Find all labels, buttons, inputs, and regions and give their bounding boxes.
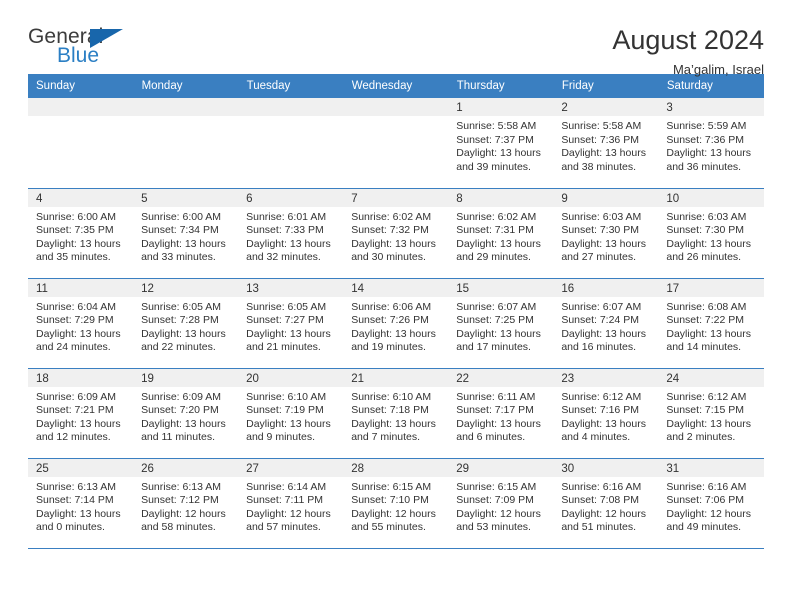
sunrise-line: Sunrise: 5:58 AM bbox=[561, 120, 650, 134]
weekday-header-friday: Friday bbox=[553, 74, 658, 98]
day-cell-inner: 21Sunrise: 6:10 AMSunset: 7:18 PMDayligh… bbox=[343, 369, 448, 458]
day-number: 4 bbox=[28, 189, 133, 207]
daylight-line-cont: and 2 minutes. bbox=[666, 431, 755, 445]
daylight-line: Daylight: 12 hours bbox=[561, 508, 650, 522]
day-details: Sunrise: 6:14 AMSunset: 7:11 PMDaylight:… bbox=[238, 477, 343, 535]
calendar-body: 1Sunrise: 5:58 AMSunset: 7:37 PMDaylight… bbox=[28, 98, 764, 548]
calendar-day-cell[interactable]: 31Sunrise: 6:16 AMSunset: 7:06 PMDayligh… bbox=[658, 458, 763, 548]
day-details bbox=[238, 116, 343, 120]
day-cell-inner bbox=[133, 98, 238, 188]
calendar-empty-cell bbox=[238, 98, 343, 188]
daylight-line: Daylight: 13 hours bbox=[561, 418, 650, 432]
day-cell-inner: 26Sunrise: 6:13 AMSunset: 7:12 PMDayligh… bbox=[133, 459, 238, 548]
day-details: Sunrise: 5:58 AMSunset: 7:37 PMDaylight:… bbox=[448, 116, 553, 174]
calendar-day-cell[interactable]: 28Sunrise: 6:15 AMSunset: 7:10 PMDayligh… bbox=[343, 458, 448, 548]
weekday-header-wednesday: Wednesday bbox=[343, 74, 448, 98]
calendar-day-cell[interactable]: 16Sunrise: 6:07 AMSunset: 7:24 PMDayligh… bbox=[553, 278, 658, 368]
sunrise-line: Sunrise: 6:03 AM bbox=[561, 211, 650, 225]
calendar-day-cell[interactable]: 3Sunrise: 5:59 AMSunset: 7:36 PMDaylight… bbox=[658, 98, 763, 188]
day-number: 25 bbox=[28, 459, 133, 477]
sunrise-line: Sunrise: 6:15 AM bbox=[351, 481, 440, 495]
calendar-day-cell[interactable]: 20Sunrise: 6:10 AMSunset: 7:19 PMDayligh… bbox=[238, 368, 343, 458]
daylight-line-cont: and 53 minutes. bbox=[456, 521, 545, 535]
sunset-line: Sunset: 7:16 PM bbox=[561, 404, 650, 418]
day-cell-inner: 22Sunrise: 6:11 AMSunset: 7:17 PMDayligh… bbox=[448, 369, 553, 458]
daylight-line: Daylight: 13 hours bbox=[141, 238, 230, 252]
daylight-line: Daylight: 13 hours bbox=[246, 328, 335, 342]
day-number: 11 bbox=[28, 279, 133, 297]
day-number: 18 bbox=[28, 369, 133, 387]
daylight-line-cont: and 55 minutes. bbox=[351, 521, 440, 535]
day-cell-inner: 13Sunrise: 6:05 AMSunset: 7:27 PMDayligh… bbox=[238, 279, 343, 368]
sunset-line: Sunset: 7:34 PM bbox=[141, 224, 230, 238]
sunrise-line: Sunrise: 6:06 AM bbox=[351, 301, 440, 315]
daylight-line: Daylight: 13 hours bbox=[351, 238, 440, 252]
sunrise-line: Sunrise: 6:02 AM bbox=[456, 211, 545, 225]
day-number: 3 bbox=[658, 98, 763, 116]
sunrise-line: Sunrise: 6:12 AM bbox=[666, 391, 755, 405]
calendar-day-cell[interactable]: 7Sunrise: 6:02 AMSunset: 7:32 PMDaylight… bbox=[343, 188, 448, 278]
day-details: Sunrise: 5:58 AMSunset: 7:36 PMDaylight:… bbox=[553, 116, 658, 174]
daylight-line-cont: and 4 minutes. bbox=[561, 431, 650, 445]
day-number: 13 bbox=[238, 279, 343, 297]
daylight-line-cont: and 33 minutes. bbox=[141, 251, 230, 265]
sunset-line: Sunset: 7:12 PM bbox=[141, 494, 230, 508]
sunset-line: Sunset: 7:35 PM bbox=[36, 224, 125, 238]
day-number: 1 bbox=[448, 98, 553, 116]
sunset-line: Sunset: 7:25 PM bbox=[456, 314, 545, 328]
daylight-line: Daylight: 13 hours bbox=[456, 238, 545, 252]
calendar-day-cell[interactable]: 9Sunrise: 6:03 AMSunset: 7:30 PMDaylight… bbox=[553, 188, 658, 278]
daylight-line: Daylight: 13 hours bbox=[456, 418, 545, 432]
calendar-day-cell[interactable]: 25Sunrise: 6:13 AMSunset: 7:14 PMDayligh… bbox=[28, 458, 133, 548]
day-number: 17 bbox=[658, 279, 763, 297]
daylight-line: Daylight: 13 hours bbox=[666, 238, 755, 252]
general-blue-logo[interactable]: General Blue bbox=[28, 26, 148, 74]
daylight-line: Daylight: 12 hours bbox=[141, 508, 230, 522]
calendar-day-cell[interactable]: 24Sunrise: 6:12 AMSunset: 7:15 PMDayligh… bbox=[658, 368, 763, 458]
sunset-line: Sunset: 7:26 PM bbox=[351, 314, 440, 328]
calendar-day-cell[interactable]: 1Sunrise: 5:58 AMSunset: 7:37 PMDaylight… bbox=[448, 98, 553, 188]
calendar-day-cell[interactable]: 14Sunrise: 6:06 AMSunset: 7:26 PMDayligh… bbox=[343, 278, 448, 368]
daylight-line: Daylight: 12 hours bbox=[246, 508, 335, 522]
day-details: Sunrise: 6:07 AMSunset: 7:25 PMDaylight:… bbox=[448, 297, 553, 355]
weekday-header-saturday: Saturday bbox=[658, 74, 763, 98]
calendar-day-cell[interactable]: 21Sunrise: 6:10 AMSunset: 7:18 PMDayligh… bbox=[343, 368, 448, 458]
daylight-line: Daylight: 13 hours bbox=[456, 328, 545, 342]
day-details: Sunrise: 6:09 AMSunset: 7:21 PMDaylight:… bbox=[28, 387, 133, 445]
calendar-day-cell[interactable]: 6Sunrise: 6:01 AMSunset: 7:33 PMDaylight… bbox=[238, 188, 343, 278]
daylight-line-cont: and 35 minutes. bbox=[36, 251, 125, 265]
day-number bbox=[343, 98, 448, 116]
calendar-day-cell[interactable]: 4Sunrise: 6:00 AMSunset: 7:35 PMDaylight… bbox=[28, 188, 133, 278]
day-number: 21 bbox=[343, 369, 448, 387]
day-number: 15 bbox=[448, 279, 553, 297]
day-details: Sunrise: 6:02 AMSunset: 7:31 PMDaylight:… bbox=[448, 207, 553, 265]
calendar-day-cell[interactable]: 26Sunrise: 6:13 AMSunset: 7:12 PMDayligh… bbox=[133, 458, 238, 548]
day-cell-inner: 6Sunrise: 6:01 AMSunset: 7:33 PMDaylight… bbox=[238, 189, 343, 278]
sunset-line: Sunset: 7:30 PM bbox=[561, 224, 650, 238]
sunset-line: Sunset: 7:17 PM bbox=[456, 404, 545, 418]
daylight-line-cont: and 32 minutes. bbox=[246, 251, 335, 265]
daylight-line: Daylight: 13 hours bbox=[351, 328, 440, 342]
daylight-line-cont: and 16 minutes. bbox=[561, 341, 650, 355]
day-details: Sunrise: 6:08 AMSunset: 7:22 PMDaylight:… bbox=[658, 297, 763, 355]
daylight-line-cont: and 9 minutes. bbox=[246, 431, 335, 445]
day-cell-inner: 24Sunrise: 6:12 AMSunset: 7:15 PMDayligh… bbox=[658, 369, 763, 458]
daylight-line-cont: and 17 minutes. bbox=[456, 341, 545, 355]
sunrise-line: Sunrise: 6:09 AM bbox=[36, 391, 125, 405]
sunrise-line: Sunrise: 6:13 AM bbox=[141, 481, 230, 495]
day-details bbox=[343, 116, 448, 120]
sunrise-line: Sunrise: 6:16 AM bbox=[561, 481, 650, 495]
day-number: 8 bbox=[448, 189, 553, 207]
daylight-line-cont: and 26 minutes. bbox=[666, 251, 755, 265]
page-title: August 2024 bbox=[612, 26, 764, 56]
daylight-line: Daylight: 13 hours bbox=[351, 418, 440, 432]
sunset-line: Sunset: 7:11 PM bbox=[246, 494, 335, 508]
page-subtitle: Ma’galim, Israel bbox=[612, 62, 764, 77]
daylight-line: Daylight: 12 hours bbox=[456, 508, 545, 522]
weekday-header-thursday: Thursday bbox=[448, 74, 553, 98]
day-details: Sunrise: 6:12 AMSunset: 7:16 PMDaylight:… bbox=[553, 387, 658, 445]
day-cell-inner: 1Sunrise: 5:58 AMSunset: 7:37 PMDaylight… bbox=[448, 98, 553, 188]
daylight-line-cont: and 7 minutes. bbox=[351, 431, 440, 445]
sunset-line: Sunset: 7:21 PM bbox=[36, 404, 125, 418]
sunrise-line: Sunrise: 6:00 AM bbox=[141, 211, 230, 225]
sunset-line: Sunset: 7:36 PM bbox=[561, 134, 650, 148]
day-number: 7 bbox=[343, 189, 448, 207]
day-number: 26 bbox=[133, 459, 238, 477]
calendar-week-row: 25Sunrise: 6:13 AMSunset: 7:14 PMDayligh… bbox=[28, 458, 764, 548]
day-cell-inner: 11Sunrise: 6:04 AMSunset: 7:29 PMDayligh… bbox=[28, 279, 133, 368]
daylight-line-cont: and 6 minutes. bbox=[456, 431, 545, 445]
calendar-day-cell[interactable]: 18Sunrise: 6:09 AMSunset: 7:21 PMDayligh… bbox=[28, 368, 133, 458]
day-number: 23 bbox=[553, 369, 658, 387]
weekday-header-sunday: Sunday bbox=[28, 74, 133, 98]
daylight-line: Daylight: 13 hours bbox=[561, 328, 650, 342]
sunset-line: Sunset: 7:24 PM bbox=[561, 314, 650, 328]
day-cell-inner: 15Sunrise: 6:07 AMSunset: 7:25 PMDayligh… bbox=[448, 279, 553, 368]
sunset-line: Sunset: 7:30 PM bbox=[666, 224, 755, 238]
calendar-empty-cell bbox=[343, 98, 448, 188]
daylight-line: Daylight: 13 hours bbox=[36, 418, 125, 432]
sunrise-line: Sunrise: 6:07 AM bbox=[456, 301, 545, 315]
sunset-line: Sunset: 7:18 PM bbox=[351, 404, 440, 418]
daylight-line: Daylight: 13 hours bbox=[246, 418, 335, 432]
logo-text-blue: Blue bbox=[57, 45, 99, 66]
sunrise-line: Sunrise: 6:08 AM bbox=[666, 301, 755, 315]
day-cell-inner: 23Sunrise: 6:12 AMSunset: 7:16 PMDayligh… bbox=[553, 369, 658, 458]
day-cell-inner: 12Sunrise: 6:05 AMSunset: 7:28 PMDayligh… bbox=[133, 279, 238, 368]
sunrise-line: Sunrise: 6:15 AM bbox=[456, 481, 545, 495]
day-details: Sunrise: 6:02 AMSunset: 7:32 PMDaylight:… bbox=[343, 207, 448, 265]
day-number: 22 bbox=[448, 369, 553, 387]
day-number: 28 bbox=[343, 459, 448, 477]
day-details: Sunrise: 6:09 AMSunset: 7:20 PMDaylight:… bbox=[133, 387, 238, 445]
page-header: General Blue August 2024 Ma’galim, Israe… bbox=[28, 0, 764, 74]
day-cell-inner: 20Sunrise: 6:10 AMSunset: 7:19 PMDayligh… bbox=[238, 369, 343, 458]
daylight-line-cont: and 19 minutes. bbox=[351, 341, 440, 355]
sunset-line: Sunset: 7:14 PM bbox=[36, 494, 125, 508]
calendar-day-cell[interactable]: 29Sunrise: 6:15 AMSunset: 7:09 PMDayligh… bbox=[448, 458, 553, 548]
calendar-day-cell[interactable]: 15Sunrise: 6:07 AMSunset: 7:25 PMDayligh… bbox=[448, 278, 553, 368]
day-number: 9 bbox=[553, 189, 658, 207]
day-details: Sunrise: 6:05 AMSunset: 7:28 PMDaylight:… bbox=[133, 297, 238, 355]
daylight-line-cont: and 30 minutes. bbox=[351, 251, 440, 265]
day-number bbox=[238, 98, 343, 116]
calendar-day-cell[interactable]: 8Sunrise: 6:02 AMSunset: 7:31 PMDaylight… bbox=[448, 188, 553, 278]
calendar-day-cell[interactable]: 5Sunrise: 6:00 AMSunset: 7:34 PMDaylight… bbox=[133, 188, 238, 278]
day-details: Sunrise: 6:00 AMSunset: 7:34 PMDaylight:… bbox=[133, 207, 238, 265]
sunset-line: Sunset: 7:08 PM bbox=[561, 494, 650, 508]
day-details: Sunrise: 6:03 AMSunset: 7:30 PMDaylight:… bbox=[553, 207, 658, 265]
day-number: 14 bbox=[343, 279, 448, 297]
day-details: Sunrise: 6:07 AMSunset: 7:24 PMDaylight:… bbox=[553, 297, 658, 355]
sunrise-line: Sunrise: 5:59 AM bbox=[666, 120, 755, 134]
sunrise-line: Sunrise: 6:00 AM bbox=[36, 211, 125, 225]
day-number: 12 bbox=[133, 279, 238, 297]
daylight-line-cont: and 27 minutes. bbox=[561, 251, 650, 265]
day-details: Sunrise: 6:10 AMSunset: 7:18 PMDaylight:… bbox=[343, 387, 448, 445]
sunrise-line: Sunrise: 6:02 AM bbox=[351, 211, 440, 225]
calendar-day-cell[interactable]: 22Sunrise: 6:11 AMSunset: 7:17 PMDayligh… bbox=[448, 368, 553, 458]
calendar-day-cell[interactable]: 17Sunrise: 6:08 AMSunset: 7:22 PMDayligh… bbox=[658, 278, 763, 368]
day-cell-inner bbox=[343, 98, 448, 188]
sunrise-line: Sunrise: 5:58 AM bbox=[456, 120, 545, 134]
calendar-day-cell[interactable]: 23Sunrise: 6:12 AMSunset: 7:16 PMDayligh… bbox=[553, 368, 658, 458]
calendar-day-cell[interactable]: 10Sunrise: 6:03 AMSunset: 7:30 PMDayligh… bbox=[658, 188, 763, 278]
day-number: 24 bbox=[658, 369, 763, 387]
day-details: Sunrise: 6:11 AMSunset: 7:17 PMDaylight:… bbox=[448, 387, 553, 445]
day-details: Sunrise: 6:13 AMSunset: 7:12 PMDaylight:… bbox=[133, 477, 238, 535]
day-cell-inner: 31Sunrise: 6:16 AMSunset: 7:06 PMDayligh… bbox=[658, 459, 763, 548]
daylight-line: Daylight: 13 hours bbox=[666, 147, 755, 161]
sunrise-line: Sunrise: 6:16 AM bbox=[666, 481, 755, 495]
daylight-line: Daylight: 13 hours bbox=[666, 328, 755, 342]
calendar-header-row: Sunday Monday Tuesday Wednesday Thursday… bbox=[28, 74, 764, 98]
day-details: Sunrise: 6:13 AMSunset: 7:14 PMDaylight:… bbox=[28, 477, 133, 535]
sunset-line: Sunset: 7:19 PM bbox=[246, 404, 335, 418]
day-cell-inner: 18Sunrise: 6:09 AMSunset: 7:21 PMDayligh… bbox=[28, 369, 133, 458]
day-cell-inner: 17Sunrise: 6:08 AMSunset: 7:22 PMDayligh… bbox=[658, 279, 763, 368]
daylight-line: Daylight: 13 hours bbox=[246, 238, 335, 252]
daylight-line-cont: and 29 minutes. bbox=[456, 251, 545, 265]
day-number: 6 bbox=[238, 189, 343, 207]
sunset-line: Sunset: 7:33 PM bbox=[246, 224, 335, 238]
daylight-line-cont: and 49 minutes. bbox=[666, 521, 755, 535]
calendar-grid: Sunday Monday Tuesday Wednesday Thursday… bbox=[28, 74, 764, 549]
day-cell-inner: 19Sunrise: 6:09 AMSunset: 7:20 PMDayligh… bbox=[133, 369, 238, 458]
day-number: 10 bbox=[658, 189, 763, 207]
sunset-line: Sunset: 7:29 PM bbox=[36, 314, 125, 328]
day-details: Sunrise: 6:03 AMSunset: 7:30 PMDaylight:… bbox=[658, 207, 763, 265]
day-cell-inner: 8Sunrise: 6:02 AMSunset: 7:31 PMDaylight… bbox=[448, 189, 553, 278]
day-cell-inner: 3Sunrise: 5:59 AMSunset: 7:36 PMDaylight… bbox=[658, 98, 763, 188]
daylight-line: Daylight: 13 hours bbox=[561, 147, 650, 161]
calendar-day-cell[interactable]: 12Sunrise: 6:05 AMSunset: 7:28 PMDayligh… bbox=[133, 278, 238, 368]
daylight-line: Daylight: 13 hours bbox=[456, 147, 545, 161]
daylight-line-cont: and 12 minutes. bbox=[36, 431, 125, 445]
daylight-line: Daylight: 13 hours bbox=[36, 508, 125, 522]
daylight-line-cont: and 58 minutes. bbox=[141, 521, 230, 535]
calendar-week-row: 4Sunrise: 6:00 AMSunset: 7:35 PMDaylight… bbox=[28, 188, 764, 278]
daylight-line: Daylight: 13 hours bbox=[141, 418, 230, 432]
day-details: Sunrise: 6:15 AMSunset: 7:09 PMDaylight:… bbox=[448, 477, 553, 535]
daylight-line: Daylight: 12 hours bbox=[351, 508, 440, 522]
day-details: Sunrise: 6:00 AMSunset: 7:35 PMDaylight:… bbox=[28, 207, 133, 265]
daylight-line-cont: and 36 minutes. bbox=[666, 161, 755, 175]
day-details bbox=[28, 116, 133, 120]
day-cell-inner: 28Sunrise: 6:15 AMSunset: 7:10 PMDayligh… bbox=[343, 459, 448, 548]
day-number: 27 bbox=[238, 459, 343, 477]
day-details: Sunrise: 6:06 AMSunset: 7:26 PMDaylight:… bbox=[343, 297, 448, 355]
calendar-day-cell[interactable]: 30Sunrise: 6:16 AMSunset: 7:08 PMDayligh… bbox=[553, 458, 658, 548]
calendar-day-cell[interactable]: 27Sunrise: 6:14 AMSunset: 7:11 PMDayligh… bbox=[238, 458, 343, 548]
sunset-line: Sunset: 7:06 PM bbox=[666, 494, 755, 508]
calendar-empty-cell bbox=[28, 98, 133, 188]
sunrise-line: Sunrise: 6:01 AM bbox=[246, 211, 335, 225]
day-details: Sunrise: 6:16 AMSunset: 7:06 PMDaylight:… bbox=[658, 477, 763, 535]
day-number: 31 bbox=[658, 459, 763, 477]
daylight-line: Daylight: 13 hours bbox=[141, 328, 230, 342]
sunrise-line: Sunrise: 6:10 AM bbox=[351, 391, 440, 405]
sunrise-line: Sunrise: 6:03 AM bbox=[666, 211, 755, 225]
day-cell-inner: 5Sunrise: 6:00 AMSunset: 7:34 PMDaylight… bbox=[133, 189, 238, 278]
day-details: Sunrise: 6:12 AMSunset: 7:15 PMDaylight:… bbox=[658, 387, 763, 445]
day-details: Sunrise: 6:10 AMSunset: 7:19 PMDaylight:… bbox=[238, 387, 343, 445]
sunrise-line: Sunrise: 6:12 AM bbox=[561, 391, 650, 405]
sunrise-line: Sunrise: 6:11 AM bbox=[456, 391, 545, 405]
sunrise-line: Sunrise: 6:10 AM bbox=[246, 391, 335, 405]
sunset-line: Sunset: 7:15 PM bbox=[666, 404, 755, 418]
day-number: 19 bbox=[133, 369, 238, 387]
sunrise-line: Sunrise: 6:09 AM bbox=[141, 391, 230, 405]
day-number: 16 bbox=[553, 279, 658, 297]
title-block: August 2024 Ma’galim, Israel bbox=[612, 26, 764, 77]
sunset-line: Sunset: 7:22 PM bbox=[666, 314, 755, 328]
calendar-day-cell[interactable]: 11Sunrise: 6:04 AMSunset: 7:29 PMDayligh… bbox=[28, 278, 133, 368]
day-number bbox=[28, 98, 133, 116]
day-number: 30 bbox=[553, 459, 658, 477]
calendar-day-cell[interactable]: 13Sunrise: 6:05 AMSunset: 7:27 PMDayligh… bbox=[238, 278, 343, 368]
calendar-week-row: 18Sunrise: 6:09 AMSunset: 7:21 PMDayligh… bbox=[28, 368, 764, 458]
weekday-header-tuesday: Tuesday bbox=[238, 74, 343, 98]
day-cell-inner: 9Sunrise: 6:03 AMSunset: 7:30 PMDaylight… bbox=[553, 189, 658, 278]
sunrise-line: Sunrise: 6:05 AM bbox=[246, 301, 335, 315]
daylight-line: Daylight: 13 hours bbox=[36, 238, 125, 252]
daylight-line-cont: and 22 minutes. bbox=[141, 341, 230, 355]
sunset-line: Sunset: 7:09 PM bbox=[456, 494, 545, 508]
weekday-header-monday: Monday bbox=[133, 74, 238, 98]
daylight-line-cont: and 24 minutes. bbox=[36, 341, 125, 355]
daylight-line: Daylight: 13 hours bbox=[36, 328, 125, 342]
day-cell-inner: 25Sunrise: 6:13 AMSunset: 7:14 PMDayligh… bbox=[28, 459, 133, 548]
calendar-week-row: 11Sunrise: 6:04 AMSunset: 7:29 PMDayligh… bbox=[28, 278, 764, 368]
day-cell-inner: 4Sunrise: 6:00 AMSunset: 7:35 PMDaylight… bbox=[28, 189, 133, 278]
day-number bbox=[133, 98, 238, 116]
calendar-empty-cell bbox=[133, 98, 238, 188]
day-cell-inner: 14Sunrise: 6:06 AMSunset: 7:26 PMDayligh… bbox=[343, 279, 448, 368]
day-cell-inner: 27Sunrise: 6:14 AMSunset: 7:11 PMDayligh… bbox=[238, 459, 343, 548]
day-number: 20 bbox=[238, 369, 343, 387]
day-details: Sunrise: 6:01 AMSunset: 7:33 PMDaylight:… bbox=[238, 207, 343, 265]
day-details: Sunrise: 6:15 AMSunset: 7:10 PMDaylight:… bbox=[343, 477, 448, 535]
day-cell-inner: 29Sunrise: 6:15 AMSunset: 7:09 PMDayligh… bbox=[448, 459, 553, 548]
day-cell-inner bbox=[238, 98, 343, 188]
daylight-line-cont: and 57 minutes. bbox=[246, 521, 335, 535]
day-cell-inner: 2Sunrise: 5:58 AMSunset: 7:36 PMDaylight… bbox=[553, 98, 658, 188]
day-details: Sunrise: 5:59 AMSunset: 7:36 PMDaylight:… bbox=[658, 116, 763, 174]
sunset-line: Sunset: 7:31 PM bbox=[456, 224, 545, 238]
calendar-week-row: 1Sunrise: 5:58 AMSunset: 7:37 PMDaylight… bbox=[28, 98, 764, 188]
calendar-day-cell[interactable]: 19Sunrise: 6:09 AMSunset: 7:20 PMDayligh… bbox=[133, 368, 238, 458]
daylight-line-cont: and 14 minutes. bbox=[666, 341, 755, 355]
day-cell-inner: 16Sunrise: 6:07 AMSunset: 7:24 PMDayligh… bbox=[553, 279, 658, 368]
daylight-line: Daylight: 12 hours bbox=[666, 508, 755, 522]
daylight-line: Daylight: 13 hours bbox=[666, 418, 755, 432]
day-details: Sunrise: 6:16 AMSunset: 7:08 PMDaylight:… bbox=[553, 477, 658, 535]
day-cell-inner bbox=[28, 98, 133, 188]
daylight-line-cont: and 38 minutes. bbox=[561, 161, 650, 175]
sunset-line: Sunset: 7:36 PM bbox=[666, 134, 755, 148]
daylight-line-cont: and 39 minutes. bbox=[456, 161, 545, 175]
day-number: 5 bbox=[133, 189, 238, 207]
sunset-line: Sunset: 7:28 PM bbox=[141, 314, 230, 328]
day-details: Sunrise: 6:05 AMSunset: 7:27 PMDaylight:… bbox=[238, 297, 343, 355]
day-details bbox=[133, 116, 238, 120]
sunset-line: Sunset: 7:10 PM bbox=[351, 494, 440, 508]
calendar-page: General Blue August 2024 Ma’galim, Israe… bbox=[0, 0, 792, 612]
sunrise-line: Sunrise: 6:13 AM bbox=[36, 481, 125, 495]
daylight-line: Daylight: 13 hours bbox=[561, 238, 650, 252]
calendar-day-cell[interactable]: 2Sunrise: 5:58 AMSunset: 7:36 PMDaylight… bbox=[553, 98, 658, 188]
sunset-line: Sunset: 7:32 PM bbox=[351, 224, 440, 238]
sunrise-line: Sunrise: 6:05 AM bbox=[141, 301, 230, 315]
sunset-line: Sunset: 7:20 PM bbox=[141, 404, 230, 418]
sunset-line: Sunset: 7:27 PM bbox=[246, 314, 335, 328]
day-number: 2 bbox=[553, 98, 658, 116]
day-number: 29 bbox=[448, 459, 553, 477]
daylight-line-cont: and 11 minutes. bbox=[141, 431, 230, 445]
day-cell-inner: 7Sunrise: 6:02 AMSunset: 7:32 PMDaylight… bbox=[343, 189, 448, 278]
daylight-line-cont: and 51 minutes. bbox=[561, 521, 650, 535]
sunset-line: Sunset: 7:37 PM bbox=[456, 134, 545, 148]
sunrise-line: Sunrise: 6:04 AM bbox=[36, 301, 125, 315]
daylight-line-cont: and 0 minutes. bbox=[36, 521, 125, 535]
day-cell-inner: 10Sunrise: 6:03 AMSunset: 7:30 PMDayligh… bbox=[658, 189, 763, 278]
daylight-line-cont: and 21 minutes. bbox=[246, 341, 335, 355]
day-cell-inner: 30Sunrise: 6:16 AMSunset: 7:08 PMDayligh… bbox=[553, 459, 658, 548]
day-details: Sunrise: 6:04 AMSunset: 7:29 PMDaylight:… bbox=[28, 297, 133, 355]
sunrise-line: Sunrise: 6:14 AM bbox=[246, 481, 335, 495]
sunrise-line: Sunrise: 6:07 AM bbox=[561, 301, 650, 315]
